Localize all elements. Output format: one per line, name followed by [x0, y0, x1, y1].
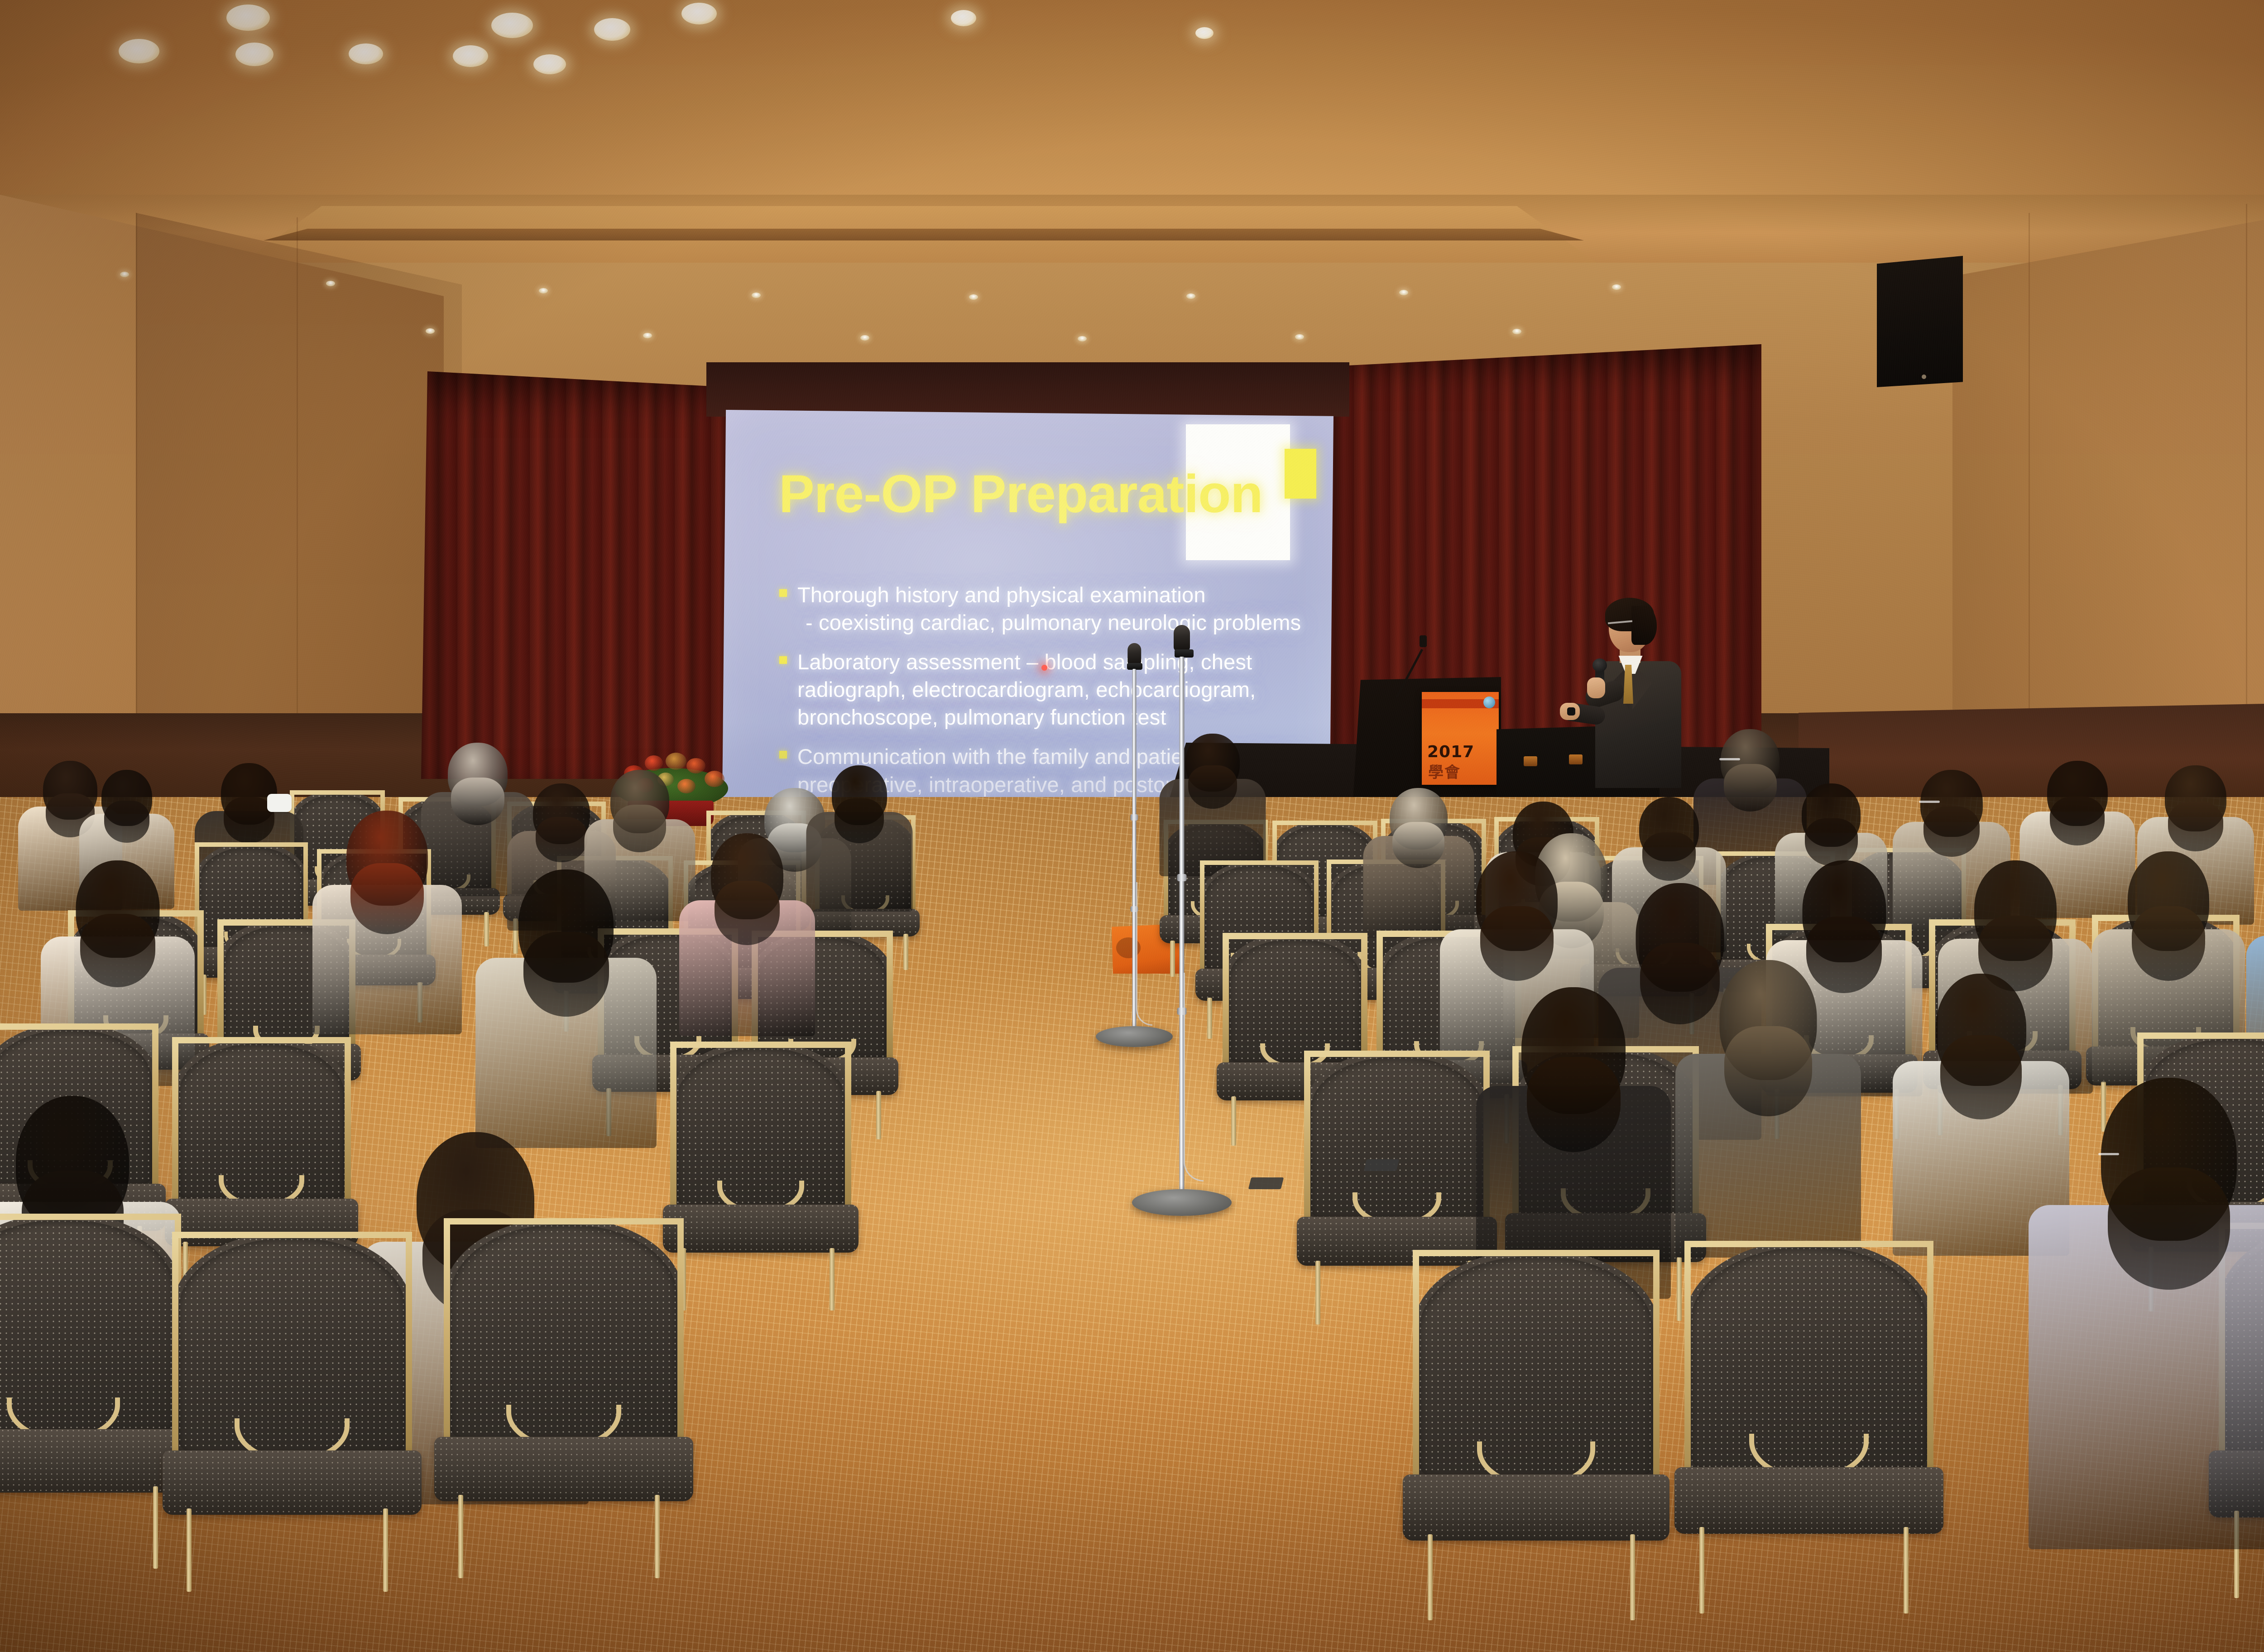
- ceiling-spotlight: [1612, 284, 1621, 290]
- ceiling-downlight: [951, 10, 976, 26]
- lecture-hall-photo: Pre-OP Preparation Thorough history and …: [0, 0, 2264, 1652]
- chair-leg: [1630, 1534, 1635, 1620]
- attendee-left-pink: [679, 833, 815, 1055]
- attendee-hair: [613, 805, 666, 852]
- mic-cable: [1184, 973, 1204, 1181]
- globe-logo-icon: [1483, 696, 1495, 708]
- flower-bloom: [645, 755, 663, 771]
- microphone-head-icon: [1127, 643, 1141, 665]
- attendee-hair: [1480, 906, 1554, 981]
- glasses-icon: [1719, 758, 1740, 760]
- attendee-hair: [1642, 832, 1696, 881]
- chair-seat: [1674, 1467, 1943, 1534]
- attendee-hair: [2108, 1167, 2230, 1290]
- stage-curtain-left: [421, 371, 738, 779]
- podium-mic-head: [1420, 635, 1427, 647]
- attendee-hair: [104, 801, 150, 843]
- ceiling-downlight: [491, 13, 533, 38]
- aisle-mic-stand-rear: [1096, 643, 1173, 1042]
- glasses-icon: [1919, 801, 1940, 803]
- chair-leg: [1904, 1527, 1909, 1614]
- chair-leg: [1231, 1096, 1236, 1146]
- chair-leg: [1315, 1261, 1320, 1324]
- audience-chair: [0, 1214, 181, 1531]
- chair-seat: [434, 1437, 693, 1501]
- attendee-hair: [1392, 822, 1444, 868]
- chair-leg: [458, 1495, 463, 1579]
- presenter: [1560, 598, 1700, 788]
- attendee-hair: [2050, 797, 2105, 845]
- attendee-hair: [80, 914, 156, 987]
- attendee-right-front-lavender: [2029, 1078, 2264, 1585]
- glasses-icon: [2098, 1153, 2119, 1155]
- presenter-hand-holding-mic: [1587, 677, 1605, 698]
- audience-chair: [444, 1218, 684, 1540]
- attendee-left-mid-4: [806, 765, 912, 925]
- ceiling-spotlight: [426, 328, 435, 334]
- presenter-hair-back: [1631, 606, 1657, 645]
- ceiling-spotlight: [1186, 293, 1195, 299]
- ceiling-downlight: [226, 5, 270, 31]
- face-mask-icon: [267, 794, 292, 812]
- mic-stand-base: [1096, 1026, 1173, 1047]
- chair-seat: [1403, 1474, 1669, 1541]
- attendee-hair: [1923, 807, 1980, 857]
- ceiling-downlight: [349, 43, 383, 64]
- mic-stand-base: [1132, 1189, 1232, 1216]
- ceiling-spotlight: [1295, 334, 1304, 340]
- ceiling-spotlight: [539, 288, 548, 293]
- slide-decoration-yellow-box: [1285, 449, 1316, 499]
- chair-leg: [1699, 1527, 1704, 1614]
- presentation-remote-icon: [1567, 707, 1575, 716]
- monitor-led: [1524, 756, 1537, 766]
- banner-year-text: 2017: [1427, 743, 1474, 761]
- attendee-left-redhair: [312, 811, 462, 1055]
- wall-seam: [136, 213, 137, 770]
- flower-bloom: [705, 771, 724, 787]
- ceiling-spotlight: [860, 335, 869, 341]
- attendee-hair: [835, 798, 884, 843]
- ceiling-spotlight: [752, 293, 761, 298]
- chair-leg: [876, 1091, 881, 1139]
- ceiling-spotlight: [120, 272, 129, 277]
- ceiling-downlight: [533, 54, 566, 74]
- wall-seam: [2246, 204, 2247, 756]
- screen-header-band: [706, 362, 1349, 417]
- attendee-hair: [350, 863, 424, 935]
- chair-leg: [1428, 1534, 1433, 1620]
- ceiling-downlight: [119, 39, 159, 63]
- ceiling-spotlight: [969, 294, 978, 300]
- chair-leg: [187, 1508, 192, 1592]
- microphone-head-icon: [1592, 658, 1607, 672]
- ceiling-downlight: [1195, 27, 1214, 39]
- chair-leg: [655, 1495, 660, 1579]
- attendee-hair: [1724, 764, 1777, 812]
- mic-clip: [1175, 649, 1194, 658]
- ceiling-spotlight: [1512, 329, 1521, 334]
- attendee-hair: [1940, 1035, 2022, 1119]
- attendee-hair: [536, 817, 587, 863]
- attendee-left-check-shirt: [475, 869, 657, 1173]
- attendee-hair: [523, 932, 609, 1017]
- audience-chair: [670, 1042, 851, 1282]
- slide-bullet-text: Thorough history and physical examinatio…: [797, 583, 1206, 607]
- chair-leg: [903, 934, 908, 970]
- slide-title: Pre-OP Preparation: [779, 463, 1262, 525]
- floor-cable-tape: [1248, 1177, 1284, 1189]
- ceiling-spotlight: [1078, 336, 1087, 341]
- mic-stand-height-collar: [1177, 874, 1187, 881]
- microphone-head-icon: [1174, 625, 1190, 651]
- attendee-hair: [715, 881, 780, 946]
- ceiling-soffit-lip: [190, 229, 1657, 240]
- mic-stand-height-collar: [1130, 814, 1138, 820]
- ceiling-downlight: [453, 45, 488, 67]
- audience-chair: [172, 1232, 412, 1553]
- wall-seam: [2029, 213, 2030, 756]
- chair-leg: [830, 1248, 835, 1311]
- ceiling-downlight: [681, 3, 717, 24]
- ceiling-spotlight: [643, 333, 652, 338]
- podium-banner: 2017 學會: [1422, 692, 1499, 785]
- flower-bloom: [666, 753, 686, 770]
- chair-leg: [153, 1486, 158, 1569]
- attendee-hair: [2168, 802, 2223, 851]
- wall-seam: [297, 217, 298, 761]
- chair-seat: [0, 1429, 191, 1493]
- laser-pointer-dot: [1041, 665, 1047, 671]
- audience-chair: [1684, 1241, 1933, 1574]
- attendee-hair: [2132, 906, 2205, 981]
- chair-seat: [663, 1205, 859, 1253]
- floor-cable-tape: [1364, 1159, 1399, 1171]
- mic-cable: [1136, 882, 1152, 1026]
- ceiling-spotlight: [1399, 290, 1408, 295]
- banner-cjk-text: 學會: [1428, 760, 1461, 782]
- attendee-hair: [1805, 818, 1858, 866]
- ceiling-downlight: [594, 18, 630, 41]
- ceiling-spotlight: [326, 281, 335, 286]
- chair-seat: [163, 1450, 422, 1515]
- audience-chair: [1413, 1250, 1660, 1580]
- pa-speaker-icon: [1877, 256, 1963, 387]
- chair-leg: [383, 1508, 388, 1592]
- speaker-indicator-dot: [1922, 375, 1926, 379]
- ceiling-downlight: [235, 43, 273, 66]
- attendee-hair: [1527, 1057, 1621, 1152]
- attendee-hair: [1724, 1026, 1812, 1116]
- attendee-right-grey-coat: [1675, 960, 1861, 1284]
